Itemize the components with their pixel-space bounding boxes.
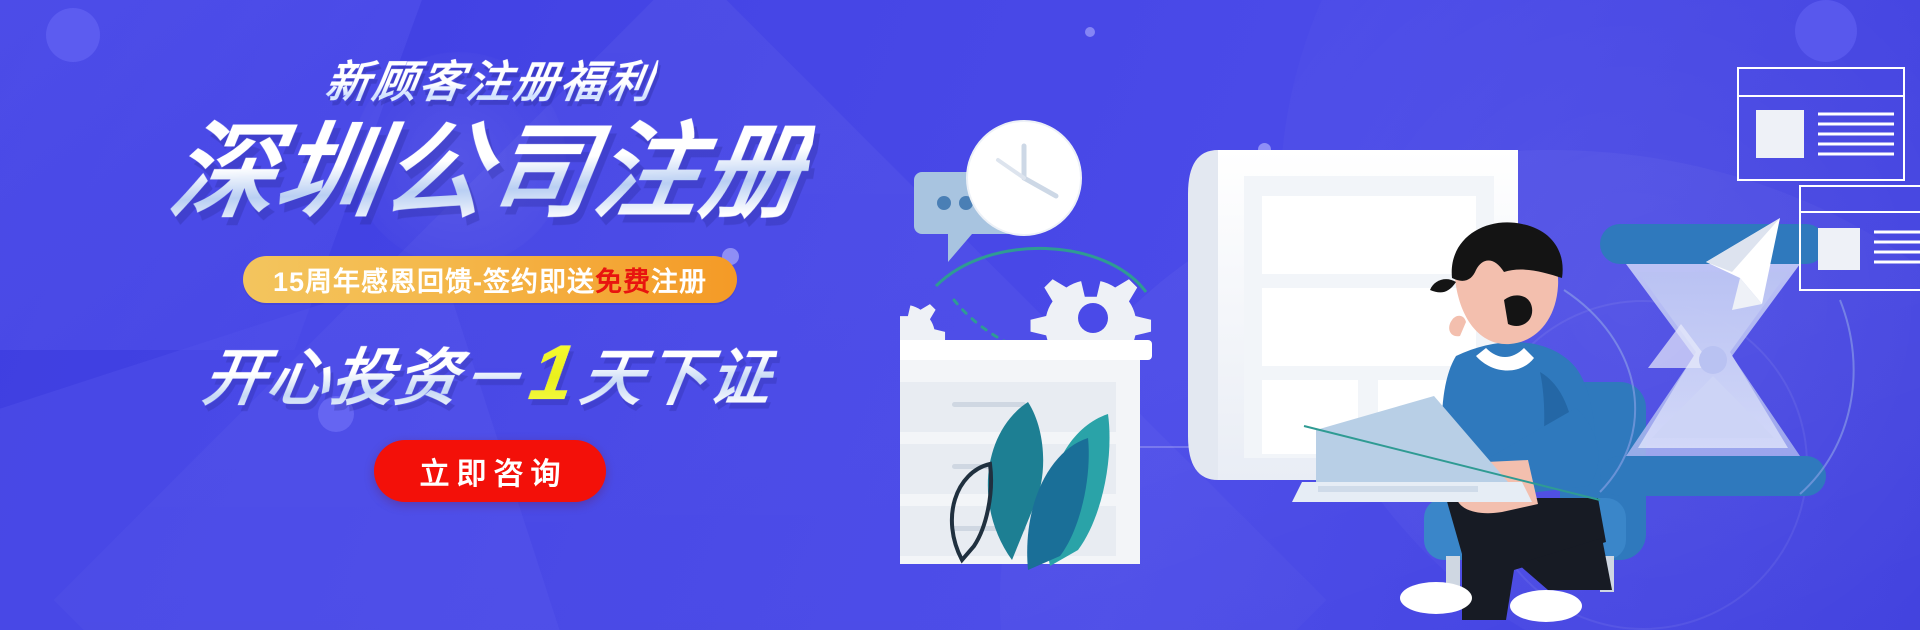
tagline-suffix: 天下证 [576,327,782,417]
headline-stack: 新顾客注册福利 深圳公司注册 15周年感恩回馈-签约即送 免费 注册 开心投资－… [0,0,980,630]
wall-clock-icon [967,121,1081,235]
eyebrow-text: 新顾客注册福利 [322,58,659,107]
tagline-prefix: 开心投资－ [198,327,532,417]
promo-pill-trail: 注册 [651,260,707,299]
tagline: 开心投资－ 1 天下证 [198,327,782,418]
promo-banner: 新顾客注册福利 深圳公司注册 15周年感恩回馈-签约即送 免费 注册 开心投资－… [0,0,1920,630]
page-title: 深圳公司注册 [163,115,817,231]
consult-now-button[interactable]: 立即咨询 [374,440,606,502]
document-card-small-content [1818,228,1920,270]
promo-pill-lead: 15周年感恩回馈-签约即送 [273,260,595,299]
promo-pill-accent: 免费 [595,260,651,299]
illustration [900,0,1920,630]
promo-pill: 15周年感恩回馈-签约即送 免费 注册 [243,256,737,303]
document-card-large-content [1756,110,1894,158]
